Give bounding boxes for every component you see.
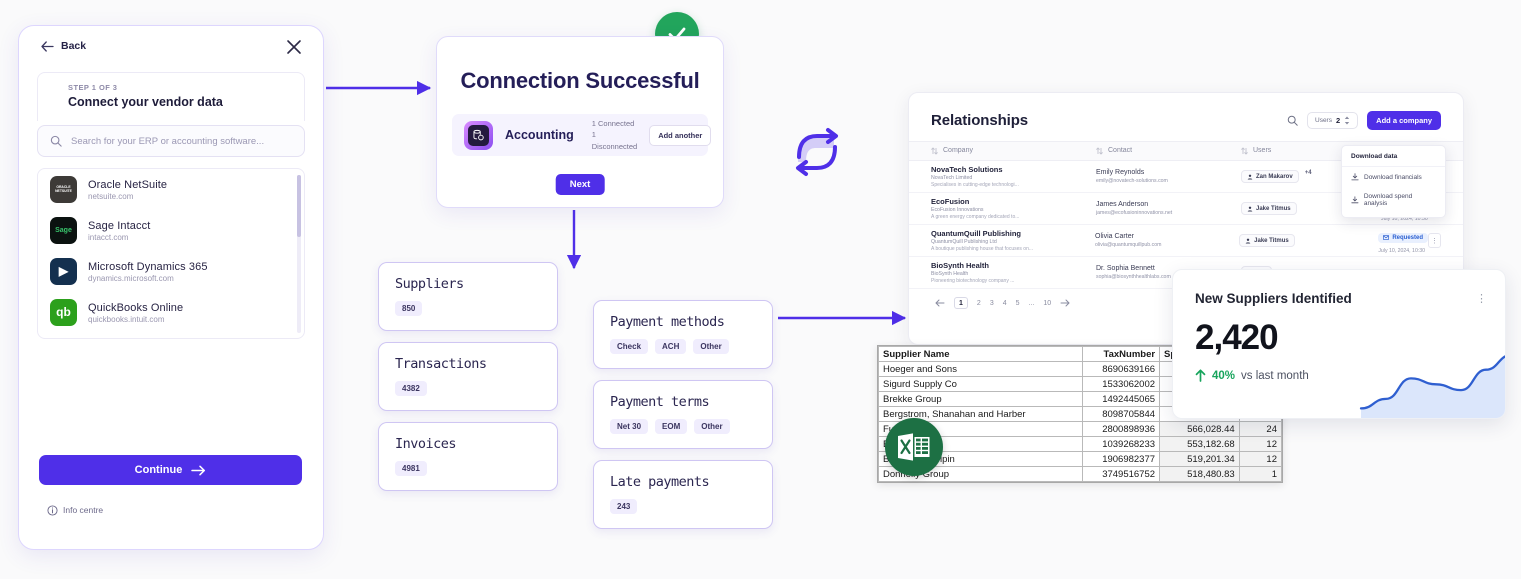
column-header-contact[interactable]: Contact <box>1096 147 1241 155</box>
accounting-chip-icon <box>464 121 493 150</box>
erp-onboarding-panel: Back STEP 1 OF 3 Connect your vendor dat… <box>18 25 324 550</box>
pill: Other <box>694 419 729 434</box>
erp-list-item[interactable]: ORACLE NETSUITEOracle NetSuitenetsuite.c… <box>38 169 304 210</box>
card-pills: 4382 <box>395 381 541 396</box>
page-ellipsis: ... <box>1029 300 1035 307</box>
label: Download financials <box>1364 174 1422 181</box>
label: Company <box>943 147 973 154</box>
card-pills: 850 <box>395 301 541 316</box>
download-data-menu[interactable]: Download data Download financials Downlo… <box>1341 145 1446 218</box>
pill: 4382 <box>395 381 427 396</box>
sort-icon <box>1241 147 1248 155</box>
vendor-url: quickbooks.intuit.com <box>88 315 183 324</box>
user-overflow-count[interactable]: +4 <box>1305 170 1312 176</box>
erp-list-item[interactable]: ▶Microsoft Dynamics 365dynamics.microsof… <box>38 251 304 292</box>
company-legal-name: BioSynth Health <box>931 271 1096 277</box>
kpi-sparkline-chart <box>1355 338 1505 418</box>
vendor-logo-icon: ▶ <box>50 258 77 285</box>
user-icon <box>1247 174 1253 180</box>
continue-button[interactable]: Continue <box>39 455 302 485</box>
table-row[interactable]: QuantumQuill PublishingQuantumQuill Publ… <box>909 225 1463 257</box>
cell-tax-number[interactable]: 1906982377 <box>1082 452 1160 467</box>
card-suppliers: Suppliers 850 <box>378 262 558 331</box>
status-label: Requested <box>1392 235 1423 241</box>
relationships-header: Relationships Users 2 Add a company <box>909 93 1463 130</box>
cell-spend[interactable]: 518,480.83 <box>1160 467 1240 482</box>
cell-users: Jake Titmus <box>1239 234 1378 247</box>
card-pills: Check ACH Other <box>610 339 756 354</box>
excel-icon <box>885 418 943 476</box>
search-icon[interactable] <box>1287 115 1298 126</box>
row-actions-button[interactable]: ⋮ <box>1428 233 1441 248</box>
add-company-button[interactable]: Add a company <box>1367 111 1441 130</box>
cell-tax-number[interactable]: 1533062002 <box>1082 377 1160 392</box>
contact-name: Olivia Carter <box>1095 233 1239 240</box>
cell-contact: Olivia Carterolivia@quantumquillpub.com <box>1095 233 1239 248</box>
pill: Check <box>610 339 648 354</box>
cell-contact: James Andersonjames@ecofusioninnovations… <box>1096 201 1241 216</box>
envelope-icon <box>1383 235 1389 240</box>
card-title: Invoices <box>395 436 541 452</box>
users-filter[interactable]: Users 2 <box>1307 112 1358 129</box>
cell-tax-number[interactable]: 3749516752 <box>1082 467 1160 482</box>
cell-count[interactable]: 1 <box>1239 467 1281 482</box>
page-3[interactable]: 3 <box>990 300 994 307</box>
page-5[interactable]: 5 <box>1016 300 1020 307</box>
sheet-row[interactable]: Donnelly Group3749516752518,480.831 <box>879 467 1282 482</box>
company-legal-name: QuantumQuill Publishing Ltd <box>931 239 1095 245</box>
vendor-url: dynamics.microsoft.com <box>88 274 208 283</box>
vendor-logo-icon: Sage <box>50 217 77 244</box>
contact-name: Emily Reynolds <box>1096 169 1241 176</box>
contact-email: emily@novatech-solutions.com <box>1096 178 1241 184</box>
cell-spend[interactable]: 566,028.44 <box>1160 422 1240 437</box>
kpi-title: New Suppliers Identified <box>1173 270 1505 306</box>
canvas: Back STEP 1 OF 3 Connect your vendor dat… <box>0 0 1521 579</box>
step-header: STEP 1 OF 3 Connect your vendor data <box>37 72 305 121</box>
add-another-button[interactable]: Add another <box>649 125 711 146</box>
pill: Net 30 <box>610 419 648 434</box>
integration-row: Accounting 1 Connected 1 Disconnected Ad… <box>452 114 708 156</box>
vendor-logo-icon: ORACLE NETSUITE <box>50 176 77 203</box>
company-legal-name: EcoFusion Innovations <box>931 207 1096 213</box>
company-description: Pioneering biotechnology company ... <box>931 278 1096 284</box>
step-title: Connect your vendor data <box>68 95 290 109</box>
page-2[interactable]: 2 <box>977 300 981 307</box>
sort-icon <box>931 147 938 155</box>
company-name: BioSynth Health <box>931 261 1096 270</box>
cell-spend[interactable]: 553,182.68 <box>1160 437 1240 452</box>
erp-list-item[interactable]: qbQuickBooks Onlinequickbooks.intuit.com <box>38 292 304 333</box>
user-chip[interactable]: Zan Makarov <box>1241 170 1299 183</box>
more-vertical-icon[interactable]: ⋮ <box>1476 292 1487 305</box>
label: Download spend analysis <box>1364 193 1436 207</box>
user-name: Jake Titmus <box>1256 206 1291 212</box>
arrow-right-icon[interactable] <box>1060 299 1070 307</box>
search-input[interactable] <box>71 136 292 147</box>
sheet-col-tax: TaxNumber <box>1082 347 1160 362</box>
pill: 850 <box>395 301 422 316</box>
card-title: Transactions <box>395 356 541 372</box>
search-icon <box>50 135 62 147</box>
sheet-col-supplier: Supplier Name <box>879 347 1083 362</box>
cell-count[interactable]: 12 <box>1239 452 1281 467</box>
card-title: Payment terms <box>610 394 756 410</box>
next-button[interactable]: Next <box>556 174 605 195</box>
close-icon[interactable] <box>285 38 303 56</box>
arrow-left-icon <box>41 41 54 52</box>
cell-company: BioSynth HealthBioSynth HealthPioneering… <box>931 261 1096 285</box>
user-name: Zan Makarov <box>1256 174 1293 180</box>
company-description: Specialises in cutting-edge technologi..… <box>931 182 1096 188</box>
card-transactions: Transactions 4382 <box>378 342 558 411</box>
users-filter-value: 2 <box>1336 116 1340 125</box>
vendor-name: Microsoft Dynamics 365 <box>88 261 208 273</box>
vendor-name: Sage Intacct <box>88 220 150 232</box>
card-title: Late payments <box>610 474 756 490</box>
continue-label: Continue <box>135 464 183 476</box>
info-icon <box>47 505 58 516</box>
user-name: Jake Titmus <box>1254 238 1289 244</box>
company-name: NovaTech Solutions <box>931 165 1096 174</box>
vendor-url: intacct.com <box>88 233 150 242</box>
download-icon <box>1351 196 1359 204</box>
arrow-right-icon <box>191 465 206 476</box>
contact-email: james@ecofusioninnovations.net <box>1096 210 1241 216</box>
erp-software-list[interactable]: ORACLE NETSUITEOracle NetSuitenetsuite.c… <box>37 168 305 339</box>
card-payment-methods: Payment methods Check ACH Other <box>593 300 773 369</box>
database-icon <box>472 129 485 142</box>
cell-company: QuantumQuill PublishingQuantumQuill Publ… <box>931 229 1095 253</box>
user-chip[interactable]: Jake Titmus <box>1241 202 1297 215</box>
list-scrollbar[interactable] <box>297 175 301 333</box>
pill: 4981 <box>395 461 427 476</box>
cell-spend[interactable]: 519,201.34 <box>1160 452 1240 467</box>
arrow-up-icon <box>1195 369 1206 382</box>
contact-email: olivia@quantumquillpub.com <box>1095 242 1239 248</box>
cell-tax-number[interactable]: 8098705844 <box>1082 407 1160 422</box>
kpi-delta-note: vs last month <box>1241 370 1309 382</box>
pill: ACH <box>655 339 686 354</box>
cell-company: EcoFusionEcoFusion InnovationsA green en… <box>931 197 1096 221</box>
arrow-left-icon[interactable] <box>935 299 945 307</box>
card-pills: 4981 <box>395 461 541 476</box>
cell-supplier-name[interactable]: Sigurd Supply Co <box>879 377 1083 392</box>
cell-tax-number[interactable]: 1039268233 <box>1082 437 1160 452</box>
pill: Other <box>693 339 728 354</box>
card-title: Suppliers <box>395 276 541 292</box>
card-title: Payment methods <box>610 314 756 330</box>
user-icon <box>1247 206 1253 212</box>
back-label: Back <box>61 40 86 52</box>
page-1[interactable]: 1 <box>954 297 968 309</box>
page-title: Relationships <box>931 112 1028 129</box>
users-filter-label: Users <box>1315 117 1332 124</box>
erp-list-item[interactable]: SageSage Intacctintacct.com <box>38 210 304 251</box>
company-name: QuantumQuill Publishing <box>931 229 1095 238</box>
chevron-updown-icon <box>1344 116 1350 125</box>
cell-tax-number[interactable]: 8690639166 <box>1082 362 1160 377</box>
status-badge: Requested <box>1378 233 1428 243</box>
list-scrollbar-thumb[interactable] <box>297 175 301 237</box>
sync-arrows-icon <box>786 124 848 180</box>
connection-title: Connection Successful <box>437 68 723 94</box>
company-description: A boutique publishing house that focuses… <box>931 246 1095 252</box>
column-header-company[interactable]: Company <box>931 147 1096 155</box>
step-kicker: STEP 1 OF 3 <box>68 83 290 92</box>
sort-icon <box>1096 147 1103 155</box>
disconnected-count: 1 Disconnected <box>592 129 637 152</box>
back-button[interactable]: Back <box>41 40 86 52</box>
cell-tax-number[interactable]: 2800898936 <box>1082 422 1160 437</box>
vendor-logo-icon: qb <box>50 299 77 326</box>
company-name: EcoFusion <box>931 197 1096 206</box>
download-icon <box>1351 173 1359 181</box>
cell-count[interactable]: 12 <box>1239 437 1281 452</box>
contact-name: James Anderson <box>1096 201 1241 208</box>
header-actions: Users 2 Add a company <box>1287 111 1441 130</box>
page-10[interactable]: 10 <box>1043 300 1051 307</box>
cell-company: NovaTech SolutionsNovaTech LimitedSpecia… <box>931 165 1096 189</box>
connected-count: 1 Connected <box>592 118 637 130</box>
label: Contact <box>1108 147 1132 154</box>
company-description: A green energy company dedicated to... <box>931 214 1096 220</box>
page-4[interactable]: 4 <box>1003 300 1007 307</box>
vendor-url: netsuite.com <box>88 192 167 201</box>
card-pills: Net 30 EOM Other <box>610 419 756 434</box>
connection-successful-card: Connection Successful Accounting 1 Conne… <box>436 36 724 208</box>
vendor-name: Oracle NetSuite <box>88 179 167 191</box>
excel-glyph <box>897 431 931 463</box>
kpi-card-new-suppliers: New Suppliers Identified ⋮ 2,420 40% vs … <box>1172 269 1506 419</box>
cell-tax-number[interactable]: 1492445065 <box>1082 392 1160 407</box>
cell-supplier-name[interactable]: Hoeger and Sons <box>879 362 1083 377</box>
download-financials-item[interactable]: Download financials <box>1342 167 1445 187</box>
user-icon <box>1245 238 1251 244</box>
erp-search-box[interactable] <box>37 125 305 157</box>
kpi-delta-value: 40% <box>1212 370 1235 382</box>
erp-topbar: Back <box>19 26 323 72</box>
card-payment-terms: Payment terms Net 30 EOM Other <box>593 380 773 449</box>
cell-supplier-name[interactable]: Brekke Group <box>879 392 1083 407</box>
user-chip[interactable]: Jake Titmus <box>1239 234 1295 247</box>
vendor-name: QuickBooks Online <box>88 302 183 314</box>
pill: 243 <box>610 499 637 514</box>
label: Users <box>1253 147 1271 154</box>
status-timestamp: July 10, 2024, 10:30 <box>1378 248 1428 254</box>
card-invoices: Invoices 4981 <box>378 422 558 491</box>
cell-count[interactable]: 24 <box>1239 422 1281 437</box>
company-legal-name: NovaTech Limited <box>931 175 1096 181</box>
download-menu-title: Download data <box>1342 146 1445 167</box>
integration-counts: 1 Connected 1 Disconnected <box>592 118 637 153</box>
integration-label: Accounting <box>505 128 574 142</box>
pill: EOM <box>655 419 687 434</box>
card-late-payments: Late payments 243 <box>593 460 773 529</box>
download-spend-analysis-item[interactable]: Download spend analysis <box>1342 187 1445 213</box>
cell-status: RequestedJuly 10, 2024, 10:30⋮ <box>1378 227 1441 254</box>
card-pills: 243 <box>610 499 756 514</box>
cell-contact: Emily Reynoldsemily@novatech-solutions.c… <box>1096 169 1241 184</box>
info-centre-link[interactable]: Info centre <box>63 505 103 515</box>
